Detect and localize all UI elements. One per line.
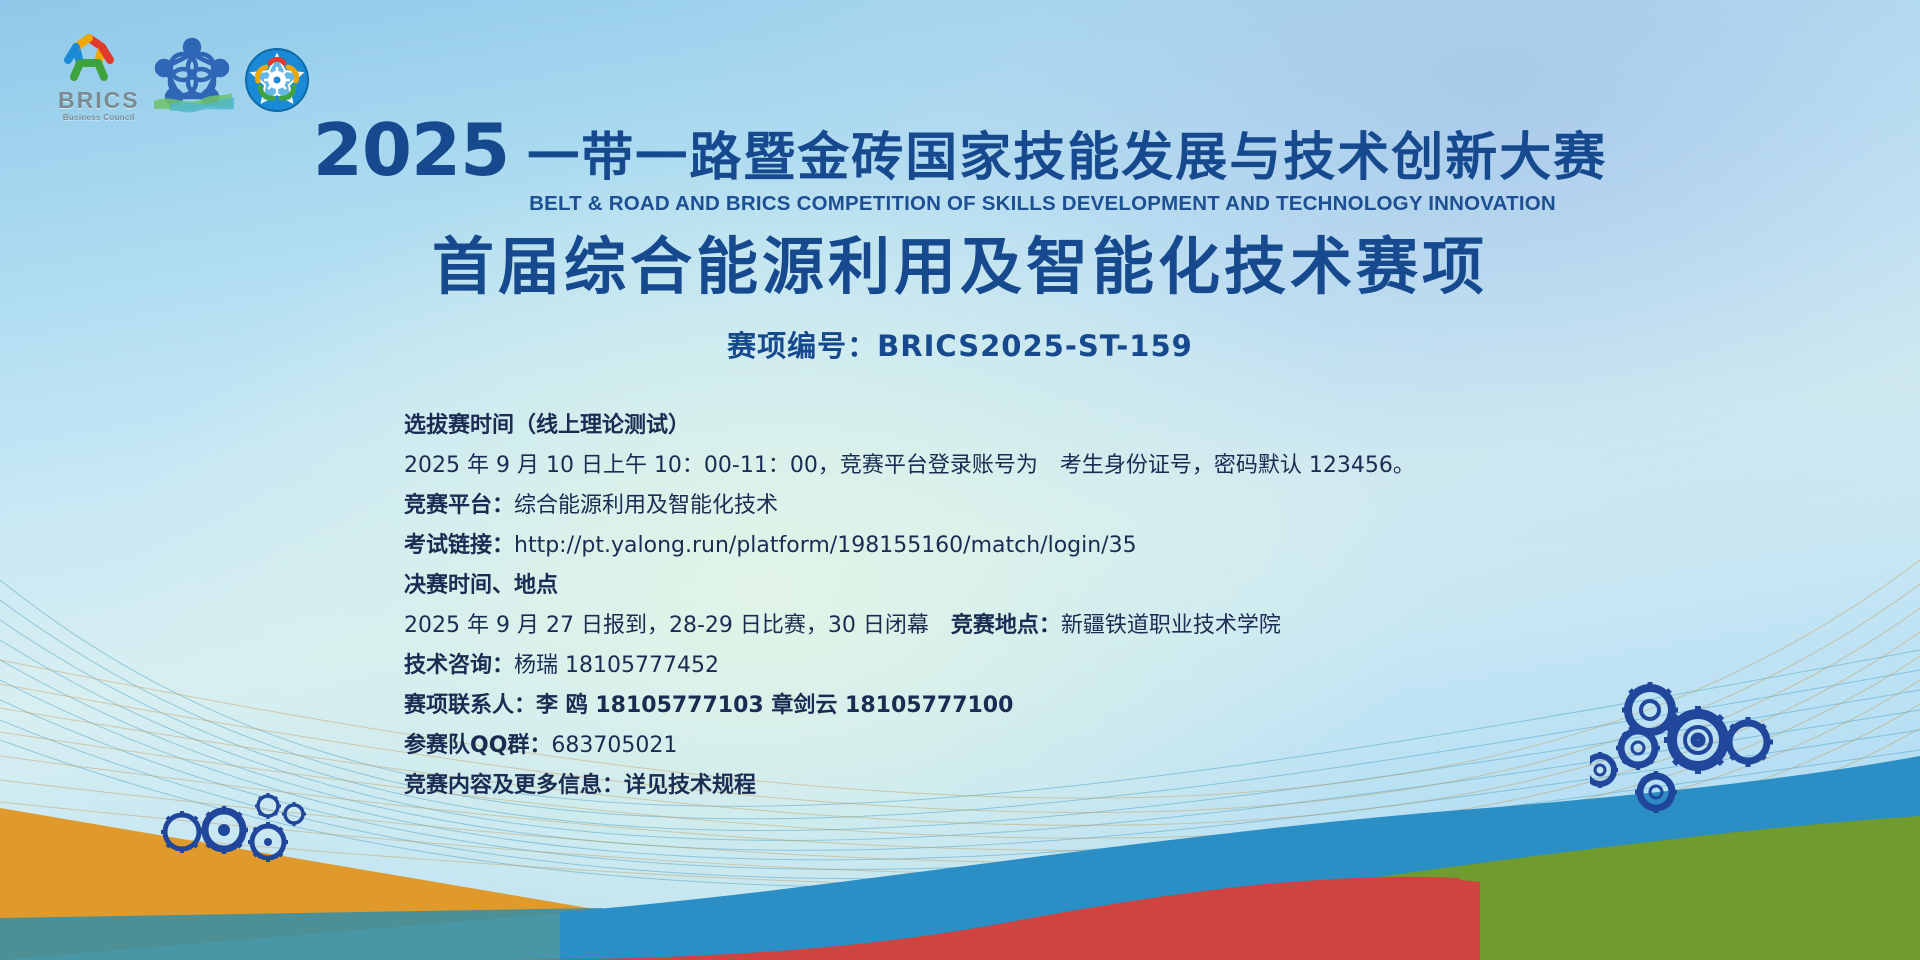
skills-star-gear-emblem-icon [244,47,310,113]
info-row-contacts: 赛项联系人：李 鸥 18105777103 章剑云 18105777100 [404,695,1584,717]
belt-and-road-logo [150,35,234,122]
contacts-value: 李 鸥 18105777103 章剑云 18105777100 [536,693,1013,718]
competition-subtitle-cn: 首届综合能源利用及智能化技术赛项 [0,234,1920,299]
selection-detail-text: 2025 年 9 月 10 日上午 10：00-11：00，竞赛平台登录账号为 [404,453,1038,478]
tech-support-value: 杨瑞 18105777452 [514,653,719,678]
qq-group-value: 683705021 [551,733,677,758]
info-block: 选拔赛时间（线上理论测试） 2025 年 9 月 10 日上午 10：00-11… [404,415,1584,815]
skills-emblem-logo [244,47,310,122]
info-row-selection-detail: 2025 年 9 月 10 日上午 10：00-11：00，竞赛平台登录账号为考… [404,455,1584,477]
competition-code: 赛项编号：BRICS2025-ST-159 [0,323,1920,365]
selection-detail-text-2: 考生身份证号，密码默认 123456。 [1060,453,1415,478]
info-row-qq-group: 参赛队QQ群：683705021 [404,735,1584,757]
poster-canvas: BRICS Business Council [0,0,1920,960]
venue-label: 竞赛地点： [951,613,1061,638]
brics-star-icon [58,30,120,84]
info-row-platform: 竞赛平台：综合能源利用及智能化技术 [404,495,1584,517]
info-row-more-info: 竞赛内容及更多信息：详见技术规程 [404,775,1584,797]
title-line-1: 2025 一带一路暨金砖国家技能发展与技术创新大赛 [0,118,1920,184]
brics-business-council-logo: BRICS Business Council [58,30,140,122]
platform-label: 竞赛平台： [404,493,514,518]
info-row-final-heading: 决赛时间、地点 [404,575,1584,597]
info-row-tech-support: 技术咨询：杨瑞 18105777452 [404,655,1584,677]
headline-block: 2025 一带一路暨金砖国家技能发展与技术创新大赛 BELT & ROAD AN… [0,118,1920,365]
venue-value: 新疆铁道职业技术学院 [1061,613,1281,638]
qq-group-label: 参赛队QQ群： [404,733,551,758]
exam-link-label: 考试链接： [404,533,514,558]
year-label: 2025 [313,118,509,183]
competition-title-en: BELT & ROAD AND BRICS COMPETITION OF SKI… [0,192,1920,216]
tech-support-label: 技术咨询： [404,653,514,678]
platform-value: 综合能源利用及智能化技术 [514,493,778,518]
competition-title-cn: 一带一路暨金砖国家技能发展与技术创新大赛 [527,132,1607,184]
brics-name-label: BRICS [58,89,140,112]
exam-link-value[interactable]: http://pt.yalong.run/platform/198155160/… [514,533,1137,558]
more-info-value: 详见技术规程 [624,773,756,798]
info-row-selection-heading: 选拔赛时间（线上理论测试） [404,415,1584,437]
more-info-label: 竞赛内容及更多信息： [404,773,624,798]
belt-and-road-knot-icon [150,35,234,115]
competition-code-label: 赛项编号： [727,329,877,363]
contacts-label: 赛项联系人： [404,693,536,718]
logo-row: BRICS Business Council [58,30,310,122]
info-row-exam-link: 考试链接：http://pt.yalong.run/platform/19815… [404,535,1584,557]
final-heading-label: 决赛时间、地点 [404,573,558,598]
final-detail-text: 2025 年 9 月 27 日报到，28-29 日比赛，30 日闭幕 [404,613,929,638]
info-row-final-detail: 2025 年 9 月 27 日报到，28-29 日比赛，30 日闭幕竞赛地点：新… [404,615,1584,637]
selection-heading-label: 选拔赛时间（线上理论测试） [404,413,690,438]
competition-code-value: BRICS2025-ST-159 [877,329,1193,363]
